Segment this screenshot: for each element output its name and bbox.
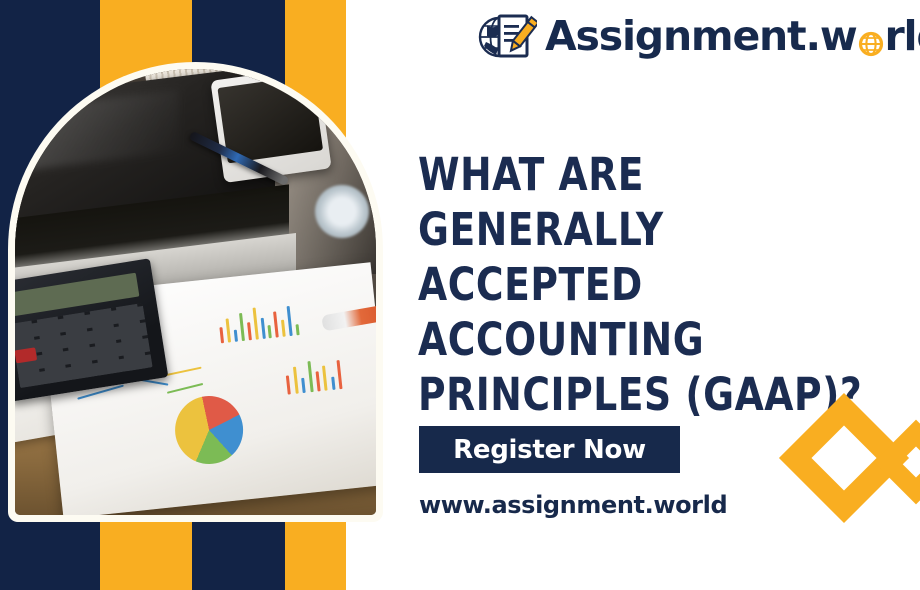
hero-photo [15, 69, 376, 515]
globe-document-pencil-icon [477, 11, 537, 61]
photo-calculator [15, 258, 168, 402]
photo-tape-dispenser [315, 185, 369, 239]
photo-bar-chart-1 [215, 299, 318, 343]
photo-bar-chart-2 [281, 351, 376, 395]
website-url[interactable]: www.assignment.world [419, 491, 727, 519]
photo-calculator-keys [15, 303, 152, 388]
globe-icon [858, 23, 884, 49]
hero-photo-frame [8, 62, 383, 522]
logo-text-part-2: rld [885, 16, 920, 57]
page-title: WHAT ARE GENERALLY ACCEPTED ACCOUNTING P… [418, 148, 864, 422]
decorative-diamonds [788, 394, 920, 522]
brand-logo-text: Assignment.w rld [545, 16, 920, 57]
brand-logo[interactable]: Assignment.w rld [477, 8, 920, 64]
promo-banner: Assignment.w rld WHAT ARE GENERALLY ACCE… [0, 0, 920, 590]
headline-line-1: WHAT ARE GENERALLY [418, 148, 864, 258]
photo-pie-chart [168, 389, 249, 470]
photo-smartphone [211, 69, 333, 183]
logo-text-part-1: Assignment.w [545, 16, 857, 57]
register-now-button[interactable]: Register Now [419, 426, 680, 473]
photo-calculator-clear-key [15, 347, 36, 363]
headline-line-2: ACCEPTED ACCOUNTING [418, 258, 864, 368]
